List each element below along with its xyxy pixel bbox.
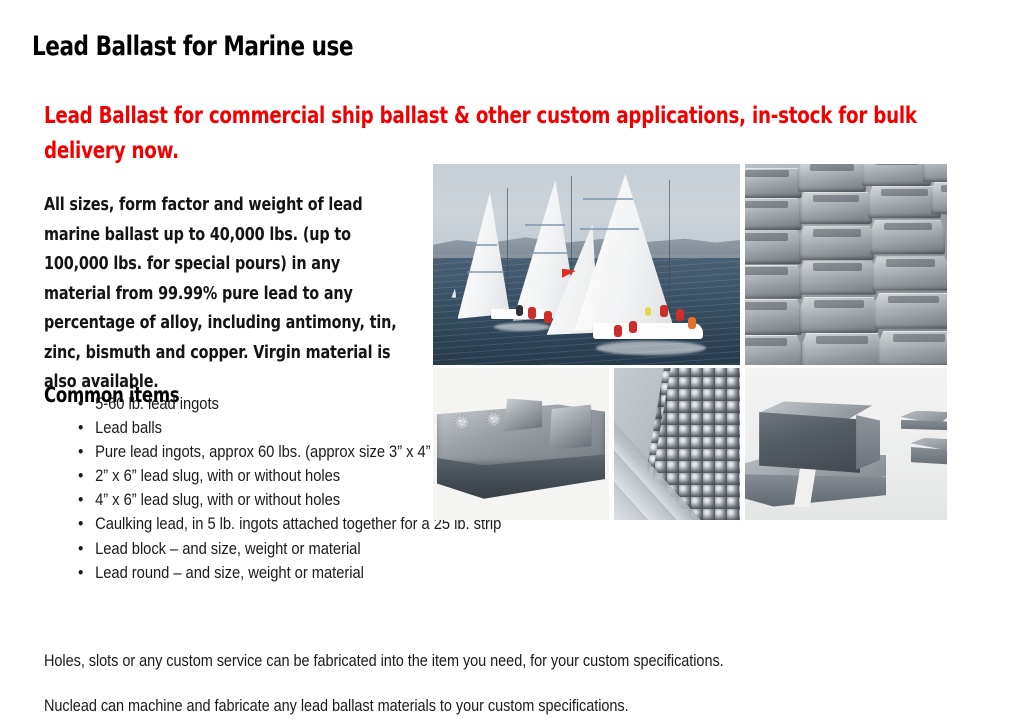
page-title: Lead Ballast for Marine use bbox=[32, 31, 512, 63]
list-item: Lead round – and size, weight or materia… bbox=[78, 562, 837, 586]
intro-paragraph: All sizes, form factor and weight of lea… bbox=[44, 190, 408, 397]
stacked-lead-ingots-photo bbox=[745, 164, 947, 365]
footer-paragraph-custom-fabrication: Holes, slots or any custom service can b… bbox=[44, 650, 850, 672]
red-headline: Lead Ballast for commercial ship ballast… bbox=[44, 99, 926, 169]
lead-blocks-photo bbox=[745, 368, 947, 520]
page-root: Lead Ballast for Marine use Lead Ballast… bbox=[0, 0, 1027, 720]
lead-ingot-closeup-photo bbox=[433, 368, 609, 520]
lead-balls-photo bbox=[614, 368, 740, 520]
sailboats-racing-photo bbox=[433, 164, 740, 365]
footer-paragraph-machining: Nuclead can machine and fabricate any le… bbox=[44, 695, 850, 717]
list-item: Lead block – and size, weight or materia… bbox=[78, 538, 837, 562]
